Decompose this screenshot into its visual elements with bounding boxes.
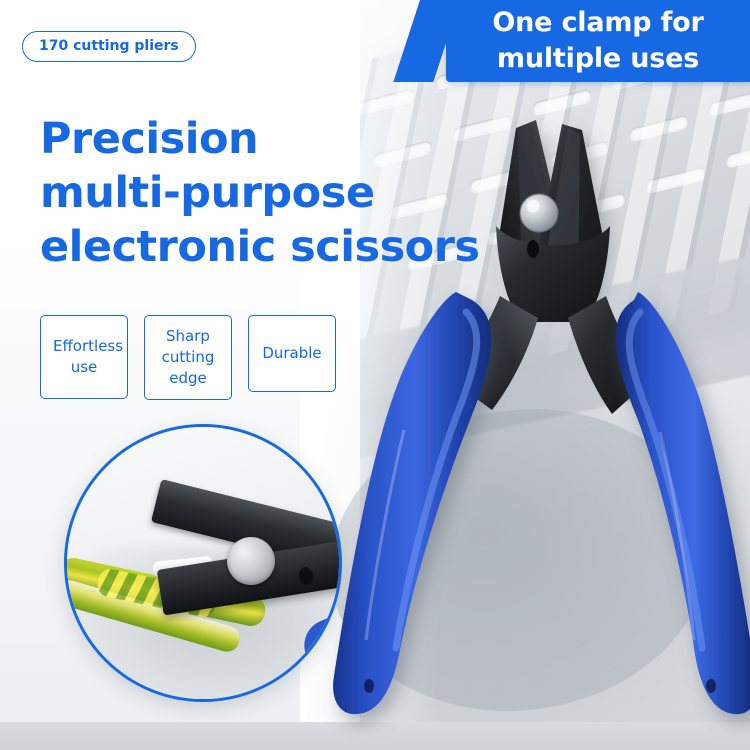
- headline-banner: One clamp for multiple uses: [446, 0, 750, 82]
- product-poster: One clamp for multiple uses 170 cutting …: [0, 0, 750, 750]
- feature-box-effortless-use: Effortless use: [40, 315, 128, 399]
- feature-box-durable: Durable: [248, 315, 336, 392]
- detail-inset-circle: [64, 424, 342, 702]
- product-model-badge: 170 cutting pliers: [22, 31, 196, 62]
- banner-text: One clamp for multiple uses: [446, 0, 750, 77]
- table-front-edge: [0, 722, 750, 750]
- inset-pivot-rivet: [227, 537, 275, 585]
- page-title: Precision multi-purpose electronic sciss…: [40, 112, 510, 274]
- feature-box-group: Effortless use Sharp cutting edge Durabl…: [40, 315, 336, 400]
- feature-box-sharp-cutting-edge: Sharp cutting edge: [144, 315, 232, 400]
